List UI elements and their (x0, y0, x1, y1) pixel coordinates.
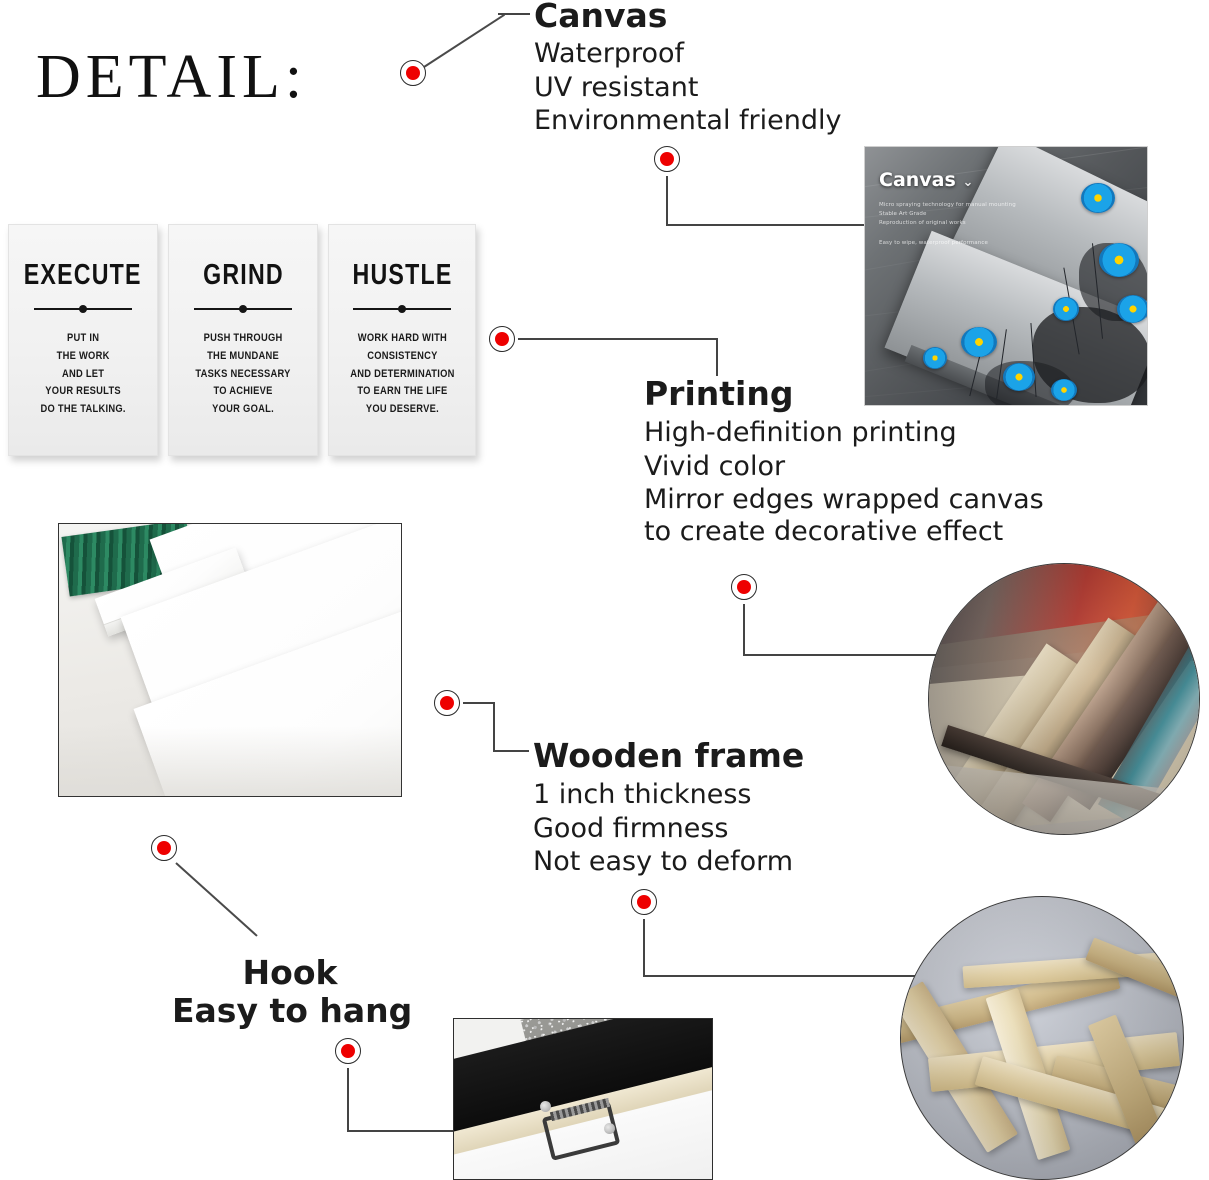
marker-dot-core (157, 841, 171, 855)
artwork-panel-grind: GRIND PUSH THROUGH THE MUNDANE TASKS NEC… (168, 224, 318, 456)
connector-canvas-photo-vertical (666, 176, 668, 226)
artwork-subline: TO ACHIEVE (195, 383, 290, 401)
callout-wooden-frame-line-2: Good firmness (533, 815, 804, 844)
artwork-panel-word: GRIND (203, 259, 284, 292)
artwork-panel-subtext: WORK HARD WITH CONSISTENCY AND DETERMINA… (350, 330, 454, 419)
photo-wooden-stretcher-bars (900, 896, 1184, 1180)
photo-canvas-label: Canvas ⌄ (879, 169, 973, 191)
artwork-subline: YOUR RESULTS (40, 383, 125, 401)
callout-wooden-frame-line-3: Not easy to deform (533, 848, 804, 877)
artwork-subline: WORK HARD WITH (350, 330, 454, 348)
photo-canvas-caption-4: Easy to wipe, waterproof performance (879, 239, 988, 248)
artwork-panel-subtext: PUSH THROUGH THE MUNDANE TASKS NECESSARY… (195, 330, 290, 419)
callout-canvas-line-3: Environmental friendly (534, 107, 841, 136)
artwork-panel-execute: EXECUTE PUT IN THE WORK AND LET YOUR RES… (8, 224, 158, 456)
artwork-subline: TO EARN THE LIFE (350, 383, 454, 401)
artwork-subline: PUT IN (40, 330, 125, 348)
connector-hook-photo-vertical (347, 1068, 349, 1132)
marker-dot-hook[interactable] (151, 835, 177, 861)
callout-printing-line-4: to create decorative effect (644, 518, 1044, 547)
marker-dot-canvas[interactable] (400, 60, 426, 86)
marker-dot-core (440, 696, 454, 710)
artwork-subline: TASKS NECESSARY (195, 366, 290, 384)
artwork-subline: THE WORK (40, 348, 125, 366)
callout-printing-line-3: Mirror edges wrapped canvas (644, 486, 1044, 515)
photo-canvas-caption-2: Stable Art Grade (879, 210, 926, 219)
marker-dot-core (737, 580, 751, 594)
callout-wooden-frame: Wooden frame 1 inch thickness Good firmn… (533, 738, 804, 877)
artwork-triptych: EXECUTE PUT IN THE WORK AND LET YOUR RES… (8, 224, 476, 462)
marker-dot-core (637, 895, 651, 909)
artwork-subline: AND LET (40, 366, 125, 384)
artwork-panel-subtext: PUT IN THE WORK AND LET YOUR RESULTS DO … (40, 330, 125, 419)
photo-canvas-closeup: Canvas ⌄ Micro spraying technology for m… (864, 146, 1148, 406)
connector-hook-photo-horizontal (347, 1130, 453, 1132)
marker-dot-core (406, 66, 420, 80)
artwork-panel-hustle: HUSTLE WORK HARD WITH CONSISTENCY AND DE… (328, 224, 476, 456)
artwork-panel-word: EXECUTE (24, 259, 142, 292)
callout-canvas-line-2: UV resistant (534, 74, 841, 103)
connector-wood-photo-vertical (643, 919, 645, 977)
photo-blank-canvas-stack (58, 523, 402, 797)
artwork-panel-divider (353, 304, 451, 314)
callout-hook: Hook Easy to hang (172, 955, 408, 1028)
callout-printing-line-1: High-definition printing (644, 419, 1044, 448)
connector-canvas-horizontal (498, 13, 530, 15)
marker-dot-wooden-frame[interactable] (434, 690, 460, 716)
artwork-subline: DO THE TALKING. (40, 401, 125, 419)
photo-hook-closeup (453, 1018, 713, 1180)
callout-printing-line-2: Vivid color (644, 453, 1044, 482)
marker-dot-hook-photo[interactable] (335, 1038, 361, 1064)
callout-wooden-frame-heading: Wooden frame (533, 738, 804, 774)
connector-printing-horizontal (518, 338, 718, 340)
marker-dot-wood-photo[interactable] (631, 889, 657, 915)
marker-dot-core (341, 1044, 355, 1058)
connector-printing-vertical (716, 338, 718, 376)
photo-canvas-caption-3: Reproduction of original works (879, 219, 966, 228)
artwork-panel-word: HUSTLE (352, 259, 452, 292)
callout-printing-heading: Printing (644, 376, 1044, 412)
page-title: DETAIL: (36, 42, 307, 113)
photo-canvas-caption-1: Micro spraying technology for manual mou… (879, 201, 1016, 210)
connector-wooden-frame-h1 (463, 702, 495, 704)
callout-hook-line-1: Easy to hang (172, 993, 408, 1029)
callout-printing: Printing High-definition printing Vivid … (644, 376, 1044, 547)
connector-wooden-frame-vertical (493, 702, 495, 752)
connector-wood-photo-horizontal (643, 975, 915, 977)
connector-print-photo-horizontal (743, 654, 937, 656)
infographic-canvas: DETAIL: Canvas Waterproof UV resistant E… (0, 0, 1209, 1178)
artwork-panel-divider (34, 304, 132, 314)
artwork-panel-divider (194, 304, 292, 314)
marker-dot-canvas-photo[interactable] (654, 146, 680, 172)
callout-canvas-line-1: Waterproof (534, 40, 841, 69)
artwork-subline: PUSH THROUGH (195, 330, 290, 348)
chevron-down-icon: ⌄ (962, 175, 973, 190)
connector-wooden-frame-h2 (493, 750, 529, 752)
connector-canvas-photo-horizontal (666, 224, 864, 226)
artwork-subline: YOUR GOAL. (195, 401, 290, 419)
photo-printed-edges-closeup (928, 563, 1200, 835)
artwork-subline: YOU DESERVE. (350, 401, 454, 419)
marker-dot-core (495, 332, 509, 346)
connector-print-photo-vertical (743, 604, 745, 656)
connector-canvas-diagonal (423, 14, 505, 68)
connector-hook-diagonal (175, 862, 257, 936)
artwork-subline: AND DETERMINATION (350, 366, 454, 384)
artwork-subline: CONSISTENCY (350, 348, 454, 366)
marker-dot-core (660, 152, 674, 166)
callout-wooden-frame-line-1: 1 inch thickness (533, 781, 804, 810)
photo-canvas-label-text: Canvas (879, 169, 956, 191)
marker-dot-printing[interactable] (489, 326, 515, 352)
artwork-subline: THE MUNDANE (195, 348, 290, 366)
callout-canvas: Canvas Waterproof UV resistant Environme… (534, 0, 841, 136)
marker-dot-print-photo[interactable] (731, 574, 757, 600)
callout-hook-heading: Hook (172, 955, 408, 991)
callout-canvas-heading: Canvas (534, 0, 841, 34)
